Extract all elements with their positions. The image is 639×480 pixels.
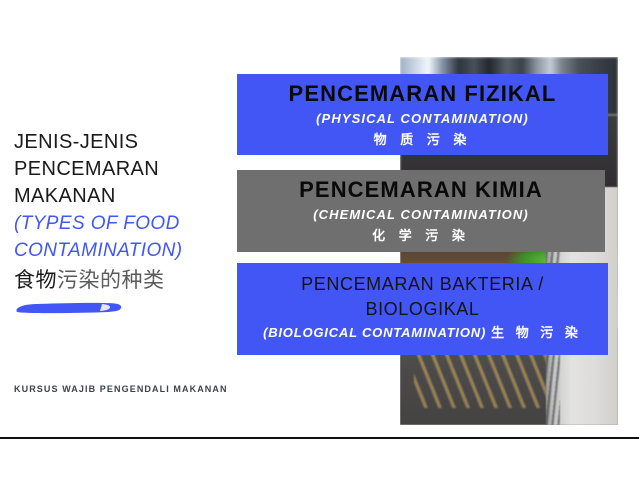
box-biological-title-line-2: BIOLOGIKAL [237, 297, 608, 322]
content-box-biological: PENCEMARAN BAKTERIA / BIOLOGIKAL (BIOLOG… [237, 263, 608, 355]
content-box-physical: PENCEMARAN FIZIKAL (PHYSICAL CONTAMINATI… [237, 74, 608, 155]
box-biological-subtitle: (BIOLOGICAL CONTAMINATION) [263, 325, 486, 340]
headline-chinese: 食物污染的种类 [14, 266, 229, 296]
slide-canvas: JENIS-JENIS PENCEMARAN MAKANAN (TYPES OF… [0, 0, 639, 480]
headline-english-line-2: CONTAMINATION) [14, 237, 229, 264]
headline-line-1: JENIS-JENIS [14, 129, 229, 156]
brush-stroke-accent [14, 300, 124, 316]
headline-english-line-1: (TYPES OF FOOD [14, 210, 229, 237]
footer-bar: PROGRAM LATIHAN PENGENDALI MAKANAN KEMEN… [0, 439, 639, 480]
headline-line-3: MAKANAN [14, 183, 229, 210]
box-biological-chinese: 生 物 污 染 [491, 325, 582, 340]
box-chemical-subtitle: (CHEMICAL CONTAMINATION) [237, 204, 605, 226]
headline-line-2: PENCEMARAN [14, 156, 229, 183]
box-chemical-chinese: 化 学 污 染 [237, 226, 605, 246]
box-physical-chinese: 物 质 污 染 [237, 130, 608, 150]
box-biological-subtitle-row: (BIOLOGICAL CONTAMINATION)生 物 污 染 [237, 322, 608, 344]
content-box-chemical: PENCEMARAN KIMIA (CHEMICAL CONTAMINATION… [237, 170, 605, 252]
course-label: KURSUS WAJIB PENGENDALI MAKANAN [14, 384, 228, 394]
box-biological-title-line-1: PENCEMARAN BAKTERIA / [237, 272, 608, 297]
box-physical-subtitle: (PHYSICAL CONTAMINATION) [237, 108, 608, 130]
headline-chinese-bold: 食物 [14, 269, 57, 292]
page-title: JENIS-JENIS PENCEMARAN MAKANAN (TYPES OF… [14, 129, 229, 296]
box-physical-title: PENCEMARAN FIZIKAL [237, 79, 608, 108]
box-chemical-title: PENCEMARAN KIMIA [237, 175, 605, 204]
headline-chinese-rest: 污染的种类 [57, 269, 165, 292]
